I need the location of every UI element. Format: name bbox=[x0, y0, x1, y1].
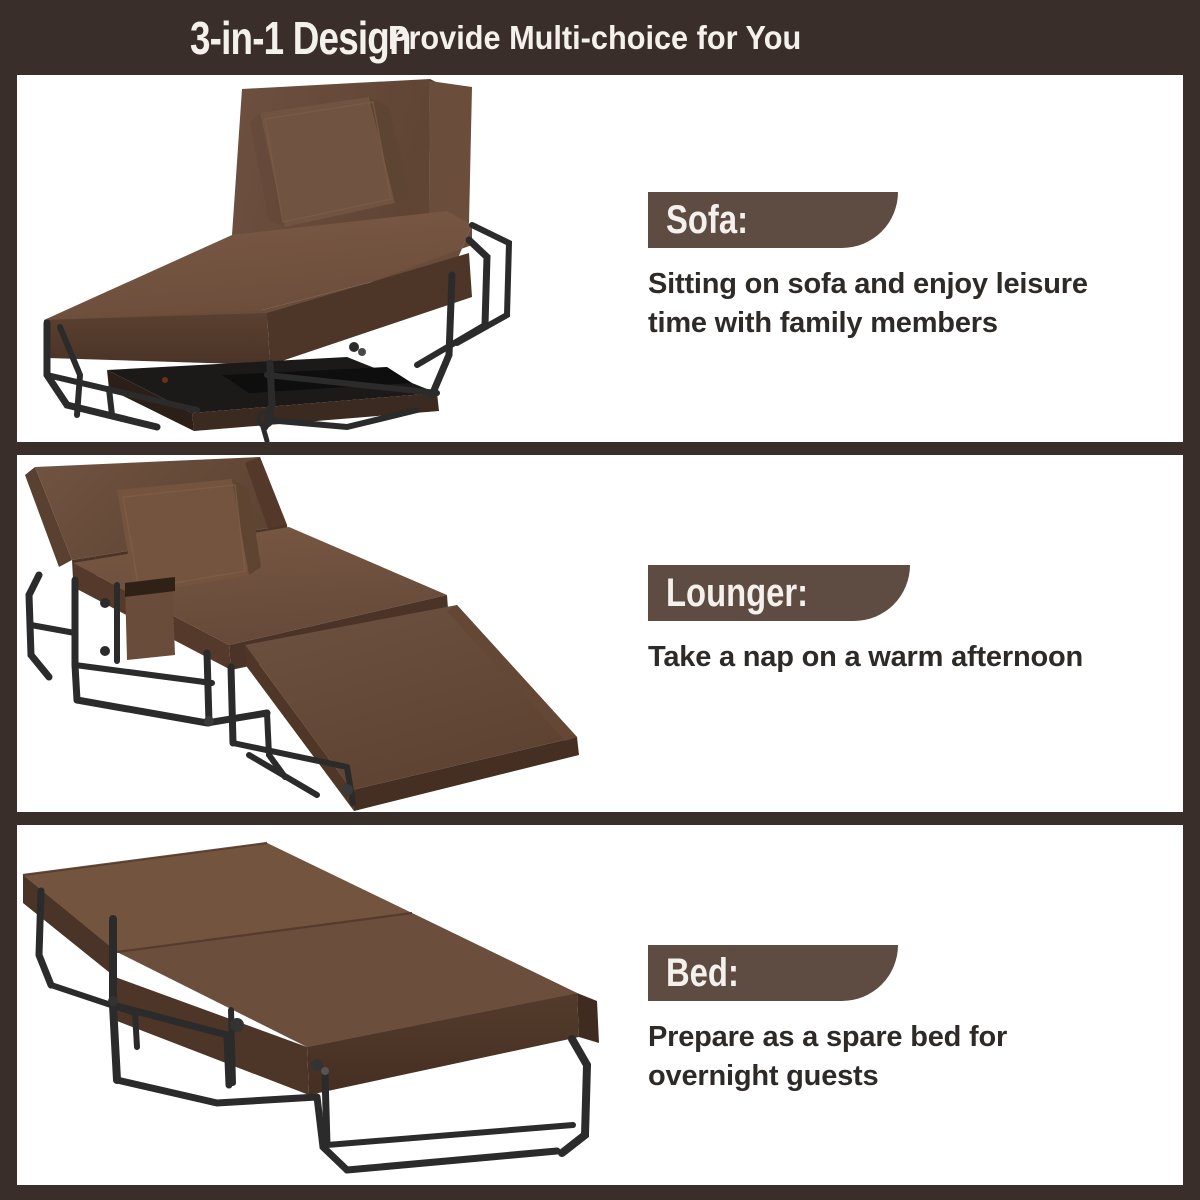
bed-description: Prepare as a spare bed for overnight gue… bbox=[648, 1018, 1138, 1095]
header-banner: 3-in-1 Design Provide Multi-choice for Y… bbox=[0, 0, 1200, 75]
lounger-copy-block: Lounger: Take a nap on a warm afternoon bbox=[648, 565, 1168, 677]
product-infographic-poster: 3-in-1 Design Provide Multi-choice for Y… bbox=[0, 0, 1200, 1200]
badge-lounger-label: Lounger: bbox=[666, 571, 866, 615]
panel-divider-1 bbox=[17, 442, 1183, 455]
panel-divider-2 bbox=[17, 812, 1183, 825]
bed-copy-block: Bed: Prepare as a spare bed for overnigh… bbox=[648, 945, 1168, 1095]
page-title: 3-in-1 Design bbox=[190, 15, 411, 61]
sofa-description: Sitting on sofa and enjoy leisure time w… bbox=[648, 265, 1138, 342]
badge-bed: Bed: bbox=[648, 945, 898, 1001]
panel-sofa: Sofa: Sitting on sofa and enjoy leisure … bbox=[17, 75, 1183, 442]
badge-sofa: Sofa: bbox=[648, 192, 898, 248]
panel-lounger: Lounger: Take a nap on a warm afternoon bbox=[17, 455, 1183, 812]
lounger-mode-illustration bbox=[17, 455, 657, 812]
badge-lounger: Lounger: bbox=[648, 565, 910, 621]
bed-mode-illustration bbox=[17, 825, 657, 1185]
page-subtitle: Provide Multi-choice for You bbox=[388, 21, 801, 54]
badge-bed-label: Bed: bbox=[666, 951, 856, 995]
lounger-description: Take a nap on a warm afternoon bbox=[648, 638, 1138, 677]
sofa-mode-illustration bbox=[17, 75, 657, 442]
badge-sofa-label: Sofa: bbox=[666, 198, 856, 242]
sofa-copy-block: Sofa: Sitting on sofa and enjoy leisure … bbox=[648, 192, 1168, 342]
panel-bed: Bed: Prepare as a spare bed for overnigh… bbox=[17, 825, 1183, 1185]
